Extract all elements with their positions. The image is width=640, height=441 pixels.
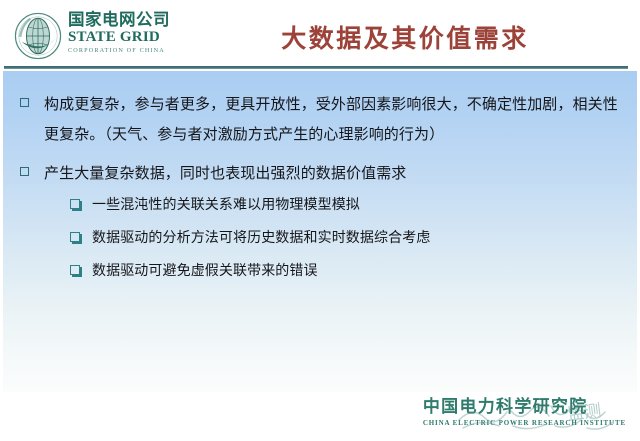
- bullet-item: 构成更复杂，参与者更多，更具开放性，受外部因素影响很大，不确定性加剧，相关性更复…: [18, 89, 622, 149]
- hollow-square-bullet-icon: [20, 167, 29, 176]
- bullet-item: 产生大量复杂数据，同时也表现出强烈的数据价值需求 一些混沌性的关联关系难以用物理…: [18, 158, 622, 285]
- cepri-logo: 中国电力科学研究院 CHINA ELECTRIC POWER RESEARCH …: [423, 397, 626, 428]
- presentation-slide: 国家电网公司 STATE GRID CORPORATION OF CHINA 大…: [0, 0, 640, 441]
- brand-name-en: STATE GRID: [68, 29, 204, 46]
- brand-name-en-sub: CORPORATION OF CHINA: [68, 46, 204, 55]
- sub-bullet-list: 一些混沌性的关联关系难以用物理模型模拟 数据驱动的分析方法可将历史数据和实时数据…: [44, 191, 622, 285]
- state-grid-globe-emblem: [14, 12, 62, 60]
- header-divider: [4, 66, 628, 69]
- hollow-square-shadow-bullet-icon: [70, 265, 80, 275]
- bullet-text: 产生大量复杂数据，同时也表现出强烈的数据价值需求: [44, 158, 622, 188]
- hollow-square-shadow-bullet-icon: [70, 232, 80, 242]
- bullet-text: 构成更复杂，参与者更多，更具开放性，受外部因素影响很大，不确定性加剧，相关性更复…: [44, 89, 622, 149]
- sub-bullet-item: 数据驱动可避免虚假关联带来的错误: [44, 257, 622, 285]
- footer-org-name-en: CHINA ELECTRIC POWER RESEARCH INSTITUTE: [423, 418, 626, 428]
- hollow-square-shadow-bullet-icon: [70, 199, 80, 209]
- sub-bullet-text: 一些混沌性的关联关系难以用物理模型模拟: [92, 191, 622, 219]
- state-grid-logo: 国家电网公司 STATE GRID CORPORATION OF CHINA: [14, 10, 204, 62]
- brand-name-cn: 国家电网公司: [68, 10, 204, 29]
- page-title: 大数据及其价值需求: [250, 19, 560, 55]
- sub-bullet-item: 一些混沌性的关联关系难以用物理模型模拟: [44, 191, 622, 219]
- hollow-square-bullet-icon: [20, 98, 29, 107]
- state-grid-logo-text: 国家电网公司 STATE GRID CORPORATION OF CHINA: [68, 10, 204, 55]
- slide-body: 构成更复杂，参与者更多，更具开放性，受外部因素影响很大，不确定性加剧，相关性更复…: [3, 71, 637, 438]
- footer-org-name-cn: 中国电力科学研究院: [423, 397, 626, 418]
- slide-footer: 中国电力科学研究院 CHINA ELECTRIC POWER RESEARCH …: [0, 392, 640, 441]
- bullet-content: 构成更复杂，参与者更多，更具开放性，受外部因素影响很大，不确定性加剧，相关性更复…: [18, 89, 622, 294]
- sub-bullet-item: 数据驱动的分析方法可将历史数据和实时数据综合考虑: [44, 224, 622, 252]
- slide-header: 国家电网公司 STATE GRID CORPORATION OF CHINA 大…: [0, 0, 640, 69]
- sub-bullet-text: 数据驱动可避免虚假关联带来的错误: [92, 257, 622, 285]
- sub-bullet-text: 数据驱动的分析方法可将历史数据和实时数据综合考虑: [92, 224, 622, 252]
